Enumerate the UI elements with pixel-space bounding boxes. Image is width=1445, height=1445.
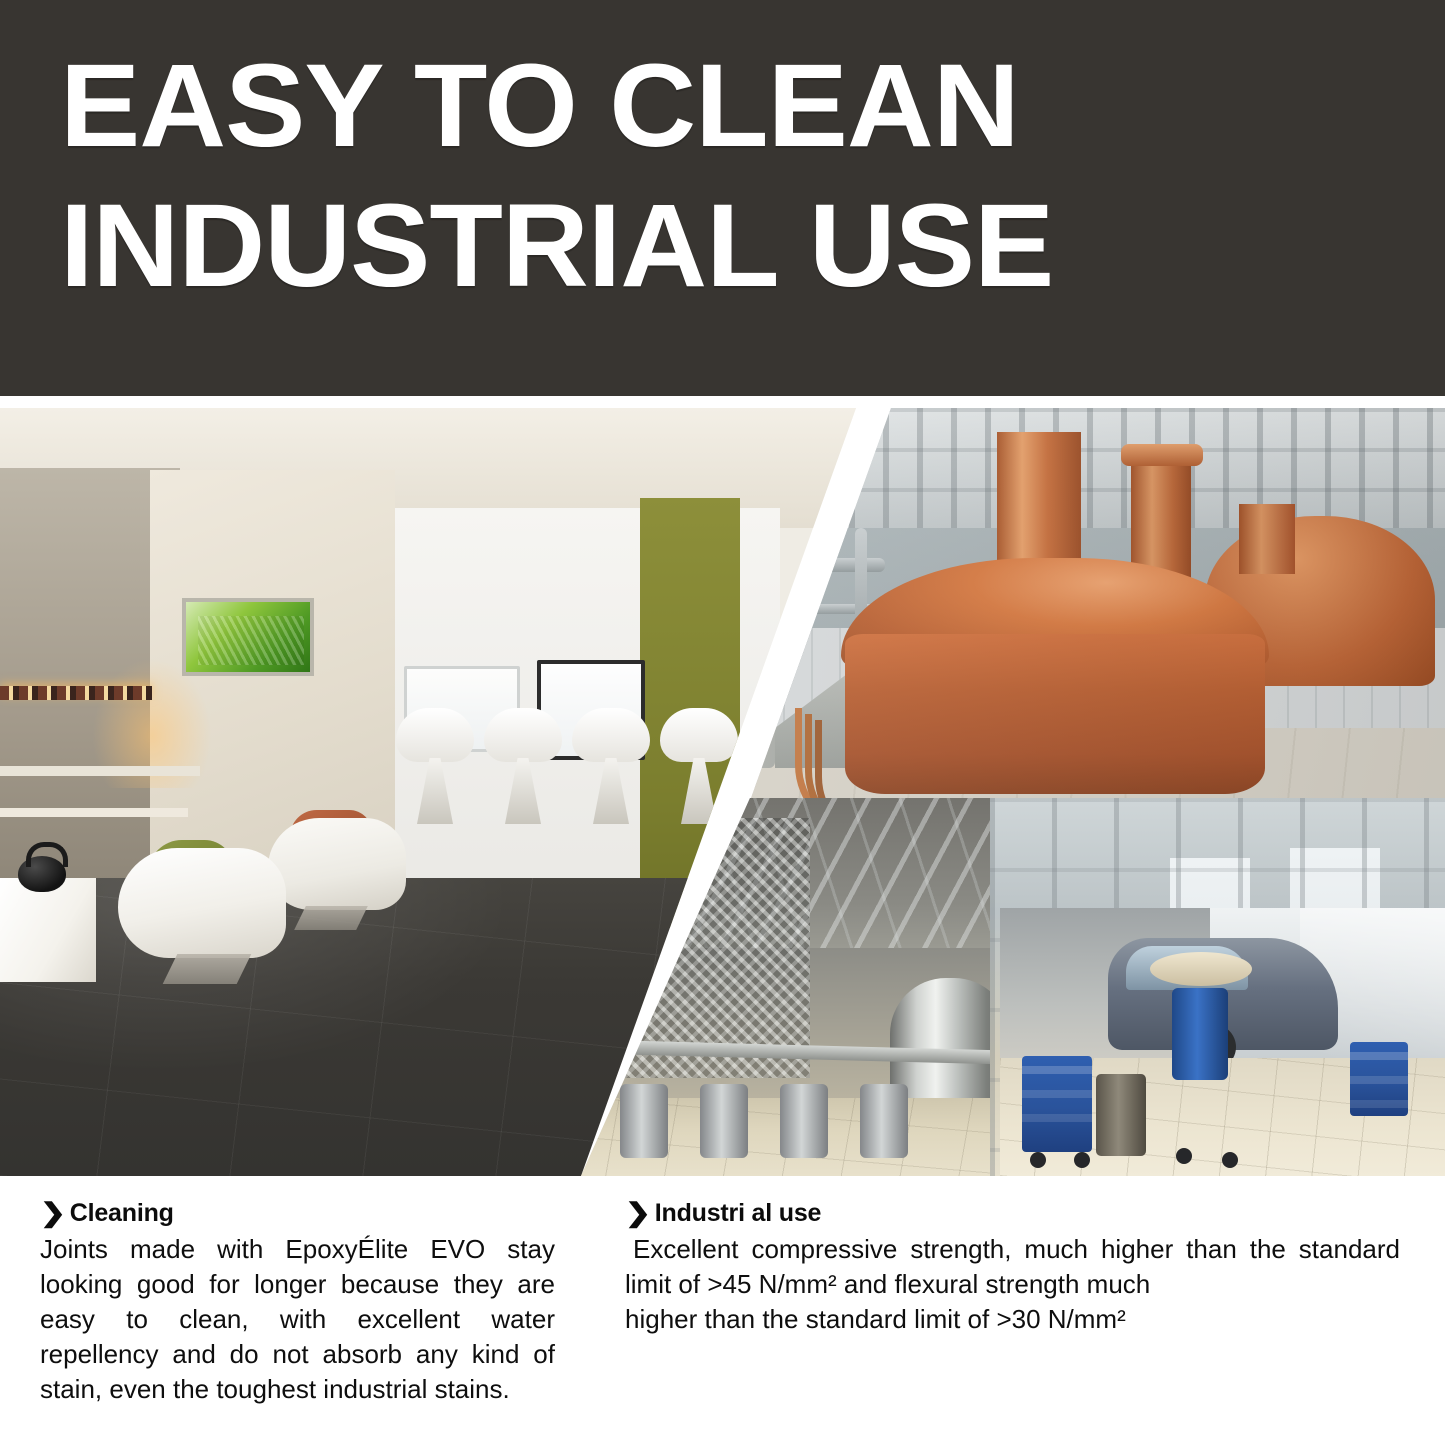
winery-valve-cart xyxy=(700,1084,748,1158)
header-banner: EASY TO CLEAN INDUSTRIAL USE xyxy=(0,0,1445,396)
cleaning-body-text: Joints made with EpoxyÉlite EVO stay loo… xyxy=(40,1232,555,1407)
cleaning-heading: Cleaning xyxy=(70,1198,174,1228)
garage-caster-wheel xyxy=(1176,1148,1192,1164)
industrial-heading-row: ❯ Industri al use xyxy=(625,1198,1415,1228)
garage-caster-wheel xyxy=(1074,1152,1090,1168)
promo-page: EASY TO CLEAN INDUSTRIAL USE xyxy=(0,0,1445,1445)
winery-valve-cart xyxy=(620,1084,668,1158)
salon-basin-pedestal xyxy=(593,758,629,824)
salon-basin xyxy=(396,708,474,762)
chevron-right-icon: ❯ xyxy=(625,1197,651,1229)
headline-line-2: INDUSTRIAL USE xyxy=(60,184,1432,308)
garage-tool-trolley xyxy=(1022,1056,1092,1152)
garage-tool-trolley xyxy=(1350,1042,1408,1116)
salon-basin xyxy=(572,708,650,762)
garage-caster-wheel xyxy=(1030,1152,1046,1168)
photo-auto-workshop xyxy=(1000,908,1445,1176)
winery-valve-cart xyxy=(860,1084,908,1158)
garage-oil-funnel xyxy=(1150,952,1252,986)
salon-chair-base-1 xyxy=(163,954,252,984)
headline-block: EASY TO CLEAN INDUSTRIAL USE xyxy=(60,44,1405,308)
industrial-body-text-part1: Excellent compressive strength, much hig… xyxy=(625,1232,1400,1302)
salon-white-side-table xyxy=(0,878,96,982)
salon-lounge-chair-2 xyxy=(268,818,406,910)
headline-line-1: EASY TO CLEAN xyxy=(60,44,1432,168)
chevron-right-icon: ❯ xyxy=(40,1197,66,1229)
salon-basin-pedestal xyxy=(417,758,453,824)
salon-candle-row xyxy=(0,686,152,700)
caption-area: ❯ Cleaning Joints made with EpoxyÉlite E… xyxy=(0,1176,1445,1445)
image-gallery xyxy=(0,408,1445,1176)
salon-shelf-lower xyxy=(0,808,188,817)
salon-basin-pedestal xyxy=(505,758,541,824)
salon-lounge-chair-1 xyxy=(118,848,286,958)
salon-shelf-upper xyxy=(0,766,200,776)
garage-scene xyxy=(1000,908,1445,1176)
garage-oil-extractor xyxy=(1172,988,1228,1080)
cleaning-heading-row: ❯ Cleaning xyxy=(40,1198,570,1228)
salon-basin-row xyxy=(396,708,736,828)
garage-caster-wheel xyxy=(1222,1152,1238,1168)
caption-cleaning: ❯ Cleaning Joints made with EpoxyÉlite E… xyxy=(40,1198,570,1407)
garage-waste-drum xyxy=(1096,1074,1146,1156)
industrial-body-text-part2: higher than the standard limit of >30 N/… xyxy=(625,1302,1400,1337)
salon-basin xyxy=(484,708,562,762)
caption-industrial-use: ❯ Industri al use Excellent compressive … xyxy=(625,1198,1415,1337)
salon-basin xyxy=(660,708,738,762)
salon-chair-base-2 xyxy=(294,906,368,930)
salon-cast-iron-teapot xyxy=(18,856,66,892)
winery-valve-cart xyxy=(780,1084,828,1158)
industrial-heading: Industri al use xyxy=(655,1198,821,1228)
salon-basin-pedestal xyxy=(681,758,717,824)
